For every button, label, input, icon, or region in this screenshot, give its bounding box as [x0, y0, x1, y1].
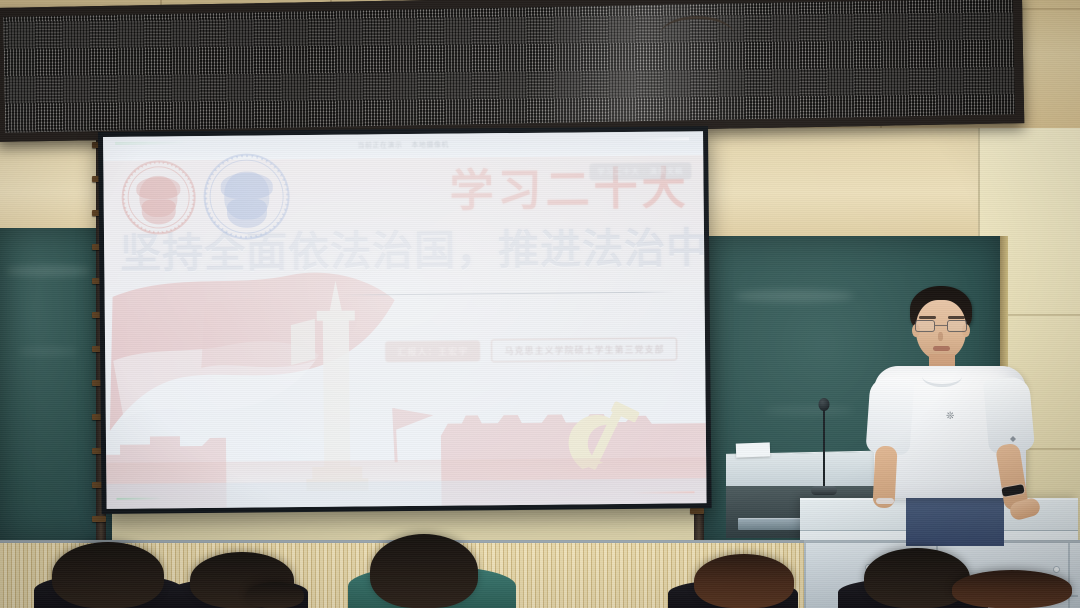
wristband	[876, 498, 894, 504]
slide-credit-row: 汇报人：王宏宇 马克思主义学院硕士学生第三党支部	[385, 337, 678, 363]
audience-head	[952, 570, 1072, 608]
slide-watermark: 学习二十大 · 演示文稿	[589, 162, 691, 180]
screenshot-root: 当前正在演示 本地摄像机 学习二十大 · 演示文稿 学习二十大 坚持全	[0, 0, 1080, 608]
eyeglasses-icon	[915, 320, 967, 332]
marx-emblem-red-icon	[121, 160, 196, 235]
presenter-brow-left	[919, 316, 936, 319]
slide-organization-chip: 马克思主义学院硕士学生第三党支部	[491, 337, 677, 362]
audience-head	[370, 534, 478, 608]
presenter-nose	[938, 332, 943, 341]
presenter-collar	[922, 366, 962, 387]
led-glare	[519, 0, 762, 142]
presenter-mouth	[933, 346, 950, 351]
slide-emblem-group	[121, 153, 290, 241]
projection-screen-frame: 当前正在演示 本地摄像机 学习二十大 · 演示文稿 学习二十大 坚持全	[98, 126, 712, 514]
status-bar-right-text: 本地摄像机	[411, 140, 449, 150]
presenter-brow-right	[948, 316, 965, 319]
presenter-jeans	[906, 490, 1004, 546]
paper-sheet	[736, 442, 770, 457]
audience-head	[52, 542, 164, 608]
presenter-sleeve-left	[865, 377, 914, 456]
slide-presenter-chip: 汇报人：王宏宇	[385, 340, 481, 362]
projection-screen: 当前正在演示 本地摄像机 学习二十大 · 演示文稿 学习二十大 坚持全	[103, 131, 707, 509]
audience-head	[694, 554, 794, 608]
led-banner-display	[0, 0, 1024, 142]
audience-head	[246, 582, 304, 608]
presenter-sleeve-right	[983, 376, 1035, 454]
audience-head	[864, 548, 970, 608]
slide-footer-band	[106, 478, 706, 509]
presenter-figure: ❊	[860, 286, 1048, 546]
led-pixel-matrix	[3, 0, 1015, 133]
status-bar-left-text: 当前正在演示	[357, 140, 402, 150]
tshirt-chest-logo-icon: ❊	[946, 412, 955, 424]
marx-emblem-blue-icon	[203, 153, 290, 240]
status-bar-accent-right	[631, 137, 689, 141]
